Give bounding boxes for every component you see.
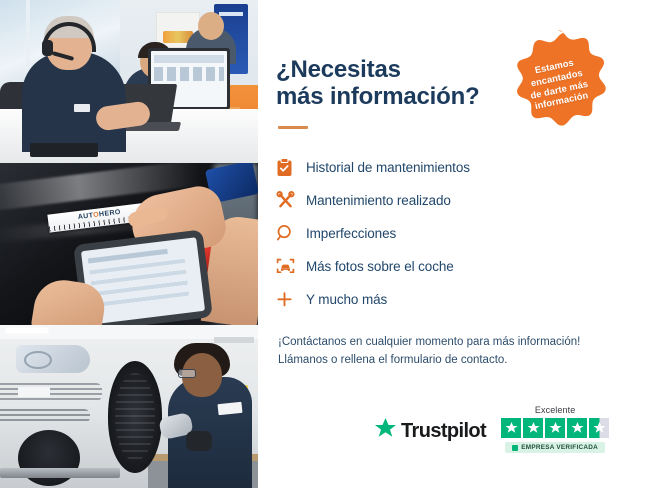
clipboard-check-icon bbox=[276, 158, 306, 177]
feature-label: Más fotos sobre el coche bbox=[306, 259, 454, 274]
star-rating bbox=[501, 418, 609, 438]
crossed-tools-icon bbox=[276, 191, 306, 210]
list-item: Y mucho más bbox=[276, 283, 650, 316]
trustpilot-rating: Excelente bbox=[501, 405, 609, 453]
verified-label: EMPRESA VERIFICADA bbox=[521, 444, 598, 451]
car-inspection-ruler-photo: AUTOHERO bbox=[0, 163, 258, 325]
paragraph-line-2: Llámanos o rellena el formulario de cont… bbox=[278, 354, 508, 366]
feature-label: Mantenimiento realizado bbox=[306, 193, 451, 208]
feature-label: Y mucho más bbox=[306, 292, 387, 307]
verified-company-badge: EMPRESA VERIFICADA bbox=[505, 442, 605, 453]
rating-label: Excelente bbox=[535, 405, 575, 415]
title-underline-rule bbox=[278, 126, 308, 129]
car-scan-icon bbox=[276, 257, 306, 275]
trustpilot-wordmark: Trustpilot bbox=[401, 420, 486, 443]
list-item: Historial de mantenimientos bbox=[276, 151, 650, 184]
feature-list: Historial de mantenimientos Mantenimient… bbox=[276, 151, 650, 316]
trustpilot-logo[interactable]: Trustpilot bbox=[374, 418, 486, 453]
star-half bbox=[589, 418, 609, 438]
paragraph-line-1: ¡Contáctanos en cualquier momento para m… bbox=[278, 336, 580, 348]
feature-label: Imperfecciones bbox=[306, 226, 396, 241]
badge-text: Estamos encantados de darte más informac… bbox=[506, 52, 610, 118]
status-badge: Estamos encantados de darte más informac… bbox=[502, 28, 614, 140]
photo-column: AUTOHERO bbox=[0, 0, 258, 488]
star-filled bbox=[501, 418, 521, 438]
workshop-wheel-check-photo bbox=[0, 325, 258, 488]
trustpilot-star-icon bbox=[374, 418, 397, 445]
magnifier-icon bbox=[276, 224, 306, 242]
page-title: ¿Necesitas más información? bbox=[276, 56, 526, 111]
list-item: Imperfecciones bbox=[276, 217, 650, 250]
star-filled bbox=[523, 418, 543, 438]
feature-label: Historial de mantenimientos bbox=[306, 160, 470, 175]
headline-line-2: más información? bbox=[276, 83, 480, 110]
star-filled bbox=[545, 418, 565, 438]
star-filled bbox=[567, 418, 587, 438]
information-banner: AUTOHERO ¿Necesitas más información? bbox=[0, 0, 650, 488]
content-panel: ¿Necesitas más información? Historial de… bbox=[258, 0, 650, 488]
check-icon bbox=[512, 445, 518, 451]
call-centre-agents-photo bbox=[0, 0, 258, 163]
contact-paragraph: ¡Contáctanos en cualquier momento para m… bbox=[278, 333, 628, 370]
headline-line-1: ¿Necesitas bbox=[276, 56, 401, 83]
list-item: Mantenimiento realizado bbox=[276, 184, 650, 217]
trustpilot-widget[interactable]: Trustpilot Excelente bbox=[374, 405, 609, 453]
plus-icon bbox=[276, 291, 306, 308]
list-item: Más fotos sobre el coche bbox=[276, 250, 650, 283]
